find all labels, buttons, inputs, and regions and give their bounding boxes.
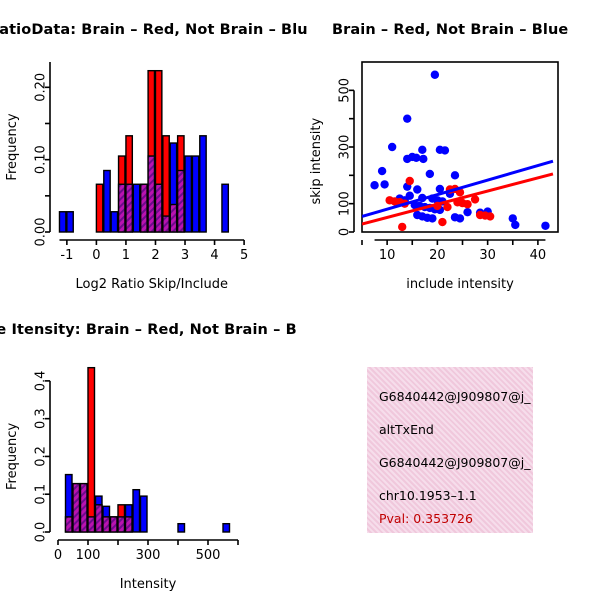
panel-intensity-histogram: ne Itensity: Brain – Red, Not Brain – B …	[0, 300, 300, 600]
panel-annotation: G6840442@J909807@j_ altTxEnd G6840442@J9…	[300, 300, 600, 600]
svg-text:-1: -1	[60, 248, 73, 263]
panel-ratio-histogram: RatioData: Brain – Red, Not Brain – Blu …	[0, 0, 300, 300]
ratio-histogram-canvas: 0.000.100.20-1012345Log2 Ratio Skip/Incl…	[0, 0, 300, 300]
svg-text:0: 0	[338, 228, 353, 236]
svg-text:300: 300	[136, 548, 161, 563]
svg-text:0.00: 0.00	[34, 218, 49, 247]
svg-text:40: 40	[530, 248, 547, 263]
svg-text:1: 1	[122, 248, 130, 263]
svg-text:100: 100	[76, 548, 101, 563]
intensity-histogram-title: ne Itensity: Brain – Red, Not Brain – B	[0, 322, 297, 338]
svg-text:Frequency: Frequency	[5, 423, 20, 490]
svg-text:10: 10	[379, 248, 396, 263]
svg-text:300: 300	[338, 135, 353, 160]
annotation-line-2: G6840442@J909807@j_	[379, 455, 530, 470]
svg-text:Log2 Ratio Skip/Include: Log2 Ratio Skip/Include	[76, 277, 228, 292]
svg-text:0.4: 0.4	[34, 371, 49, 392]
svg-text:Frequency: Frequency	[5, 113, 20, 180]
svg-text:20: 20	[429, 248, 446, 263]
annotation-line-3: chr10.1953–1.1	[379, 488, 477, 503]
annotation-line-pval: Pval: 0.353726	[379, 511, 473, 526]
svg-text:skip intensity: skip intensity	[309, 118, 324, 205]
svg-text:0: 0	[54, 548, 62, 563]
svg-text:0.2: 0.2	[34, 446, 49, 467]
svg-text:0.3: 0.3	[34, 408, 49, 429]
ratio-histogram-title: RatioData: Brain – Red, Not Brain – Blu	[0, 22, 308, 38]
svg-text:100: 100	[338, 191, 353, 216]
svg-text:include intensity: include intensity	[406, 277, 514, 292]
annotation-line-1: altTxEnd	[379, 422, 434, 437]
svg-text:Intensity: Intensity	[120, 577, 177, 592]
svg-text:500: 500	[338, 78, 353, 103]
svg-text:4: 4	[210, 248, 218, 263]
svg-text:3: 3	[181, 248, 189, 263]
svg-text:5: 5	[240, 248, 248, 263]
svg-text:0.20: 0.20	[34, 73, 49, 102]
panel-intensity-scatter: Brain – Red, Not Brain – Blue 0100300500…	[300, 0, 600, 300]
svg-text:30: 30	[479, 248, 496, 263]
svg-text:0: 0	[92, 248, 100, 263]
svg-text:500: 500	[196, 548, 221, 563]
scatter-canvas: 010030050010203040include intensityskip …	[300, 0, 600, 300]
svg-text:0.10: 0.10	[34, 145, 49, 174]
scatter-title: Brain – Red, Not Brain – Blue	[332, 22, 568, 38]
svg-text:0.1: 0.1	[34, 484, 49, 505]
svg-text:2: 2	[151, 248, 159, 263]
intensity-histogram-canvas: 0.00.10.20.30.40100300500IntensityFreque…	[0, 300, 300, 600]
annotation-line-0: G6840442@J909807@j_	[379, 389, 530, 404]
svg-text:0.0: 0.0	[34, 522, 49, 543]
